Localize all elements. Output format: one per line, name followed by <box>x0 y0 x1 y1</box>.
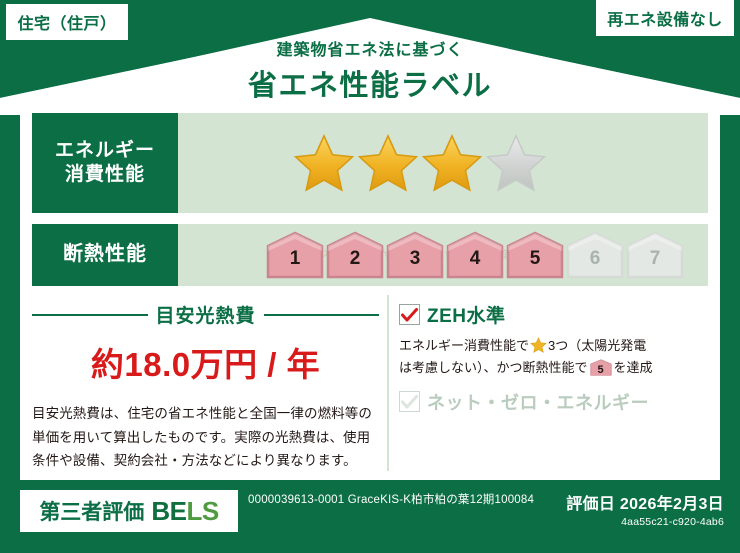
insulation-badge-inline: 5 <box>590 359 612 376</box>
lower-section: 目安光熱費 約18.0万円 / 年 目安光熱費は、住宅の省エネ性能と全国一律の燃… <box>32 295 708 471</box>
house-icon <box>626 231 684 279</box>
house-icon <box>326 231 384 279</box>
insulation-level-badge: 4 <box>446 231 504 279</box>
bels-logo: 第三者評価 BELS <box>20 490 238 532</box>
zeh-heading: ZEH水準 <box>399 301 708 328</box>
check-icon <box>401 308 418 322</box>
insulation-level-badge: 5 <box>506 231 564 279</box>
house-icon <box>506 231 564 279</box>
insulation-performance-row: 断熱性能 ハウスドゥ 松戸六実店／株式会社南不動産 1234567 <box>32 224 708 286</box>
net-zero-energy-title: ネット・ゼロ・エネルギー <box>427 389 649 415</box>
insulation-level-badge: 7 <box>626 231 684 279</box>
bels-energy-label: 建築物省エネ法に基づく 省エネ性能ラベル 住宅（住戸） 再エネ設備なし エネルギ… <box>0 0 740 553</box>
header-text-group: 建築物省エネ法に基づく 省エネ性能ラベル <box>0 36 740 104</box>
heading-rule-left <box>32 314 148 316</box>
insulation-level-scale: ハウスドゥ 松戸六実店／株式会社南不動産 1234567 <box>178 224 708 286</box>
zeh-desc-stars: 3つ（太陽光発電 <box>548 338 646 353</box>
evaluation-date-group: 評価日 2026年2月3日 4aa55c21-c920-4ab6 <box>566 490 724 528</box>
certificate-hash: 4aa55c21-c920-4ab6 <box>566 516 724 528</box>
insulation-level-badge: 1 <box>266 231 324 279</box>
insulation-performance-label: 断熱性能 <box>32 224 178 286</box>
tag-building-type: 住宅（住戸） <box>6 4 128 40</box>
evaluation-date: 評価日 2026年2月3日 <box>566 490 724 514</box>
house-icon <box>566 231 624 279</box>
utility-cost-heading: 目安光熱費 <box>32 301 379 328</box>
star-icon-filled <box>357 133 419 193</box>
utility-cost-heading-text: 目安光熱費 <box>156 301 256 328</box>
house-icon <box>446 231 504 279</box>
insulation-level-badge: 6 <box>566 231 624 279</box>
insulation-level-badge: 2 <box>326 231 384 279</box>
zeh-checkbox[interactable] <box>399 304 420 325</box>
label-body-panel: エネルギー 消費性能 断熱性能 ハウスドゥ 松戸六実店／株式会社南不動産 123… <box>20 105 720 480</box>
certificate-id: 0000039613-0001 GraceKIS-K柏市柏の葉12期100084 <box>248 492 538 509</box>
heading-rule-right <box>264 314 380 316</box>
page-title: 省エネ性能ラベル <box>0 62 740 104</box>
utility-cost-column: 目安光熱費 約18.0万円 / 年 目安光熱費は、住宅の省エネ性能と全国一律の燃… <box>32 295 387 471</box>
insulation-level-badge: 3 <box>386 231 444 279</box>
utility-cost-note: 目安光熱費は、住宅の省エネ性能と全国一律の燃料等の単価を用いて算出したものです。… <box>32 402 379 473</box>
net-zero-energy-checkbox[interactable] <box>399 391 420 412</box>
star-icon <box>530 337 547 353</box>
energy-star-rating <box>178 113 708 213</box>
house-icon <box>266 231 324 279</box>
tag-renewable-energy: 再エネ設備なし <box>596 0 734 36</box>
check-icon-disabled <box>401 395 418 409</box>
zeh-column: ZEH水準 エネルギー消費性能で3つ（太陽光発電 は考慮しない）、かつ断熱性能で… <box>387 295 708 471</box>
energy-performance-label: エネルギー 消費性能 <box>32 113 178 213</box>
footer: 第三者評価 BELS 0000039613-0001 GraceKIS-K柏市柏… <box>0 480 740 553</box>
star-icon-filled <box>421 133 483 193</box>
house-icon <box>386 231 444 279</box>
bels-logo-en-light: LS <box>186 496 218 526</box>
energy-label-line1: エネルギー <box>55 139 155 163</box>
zeh-title: ZEH水準 <box>427 301 506 328</box>
energy-label-line2: 消費性能 <box>65 163 145 187</box>
zeh-desc-part2: は考慮しない）、かつ断熱性能で <box>399 360 588 375</box>
energy-performance-row: エネルギー 消費性能 <box>32 113 708 213</box>
utility-cost-amount: 約18.0万円 / 年 <box>32 338 379 386</box>
zeh-desc-part3: を達成 <box>614 360 653 375</box>
net-zero-energy-row: ネット・ゼロ・エネルギー <box>399 389 708 415</box>
star-icon-empty <box>485 133 547 193</box>
bels-logo-en-dark: BE <box>151 496 186 526</box>
star-icon-filled <box>293 133 355 193</box>
bels-logo-en: BELS <box>151 496 218 527</box>
zeh-desc-part1: エネルギー消費性能で <box>399 338 529 353</box>
bels-logo-jp: 第三者評価 <box>39 496 144 526</box>
zeh-description: エネルギー消費性能で3つ（太陽光発電 は考慮しない）、かつ断熱性能で5を達成 <box>399 335 708 380</box>
